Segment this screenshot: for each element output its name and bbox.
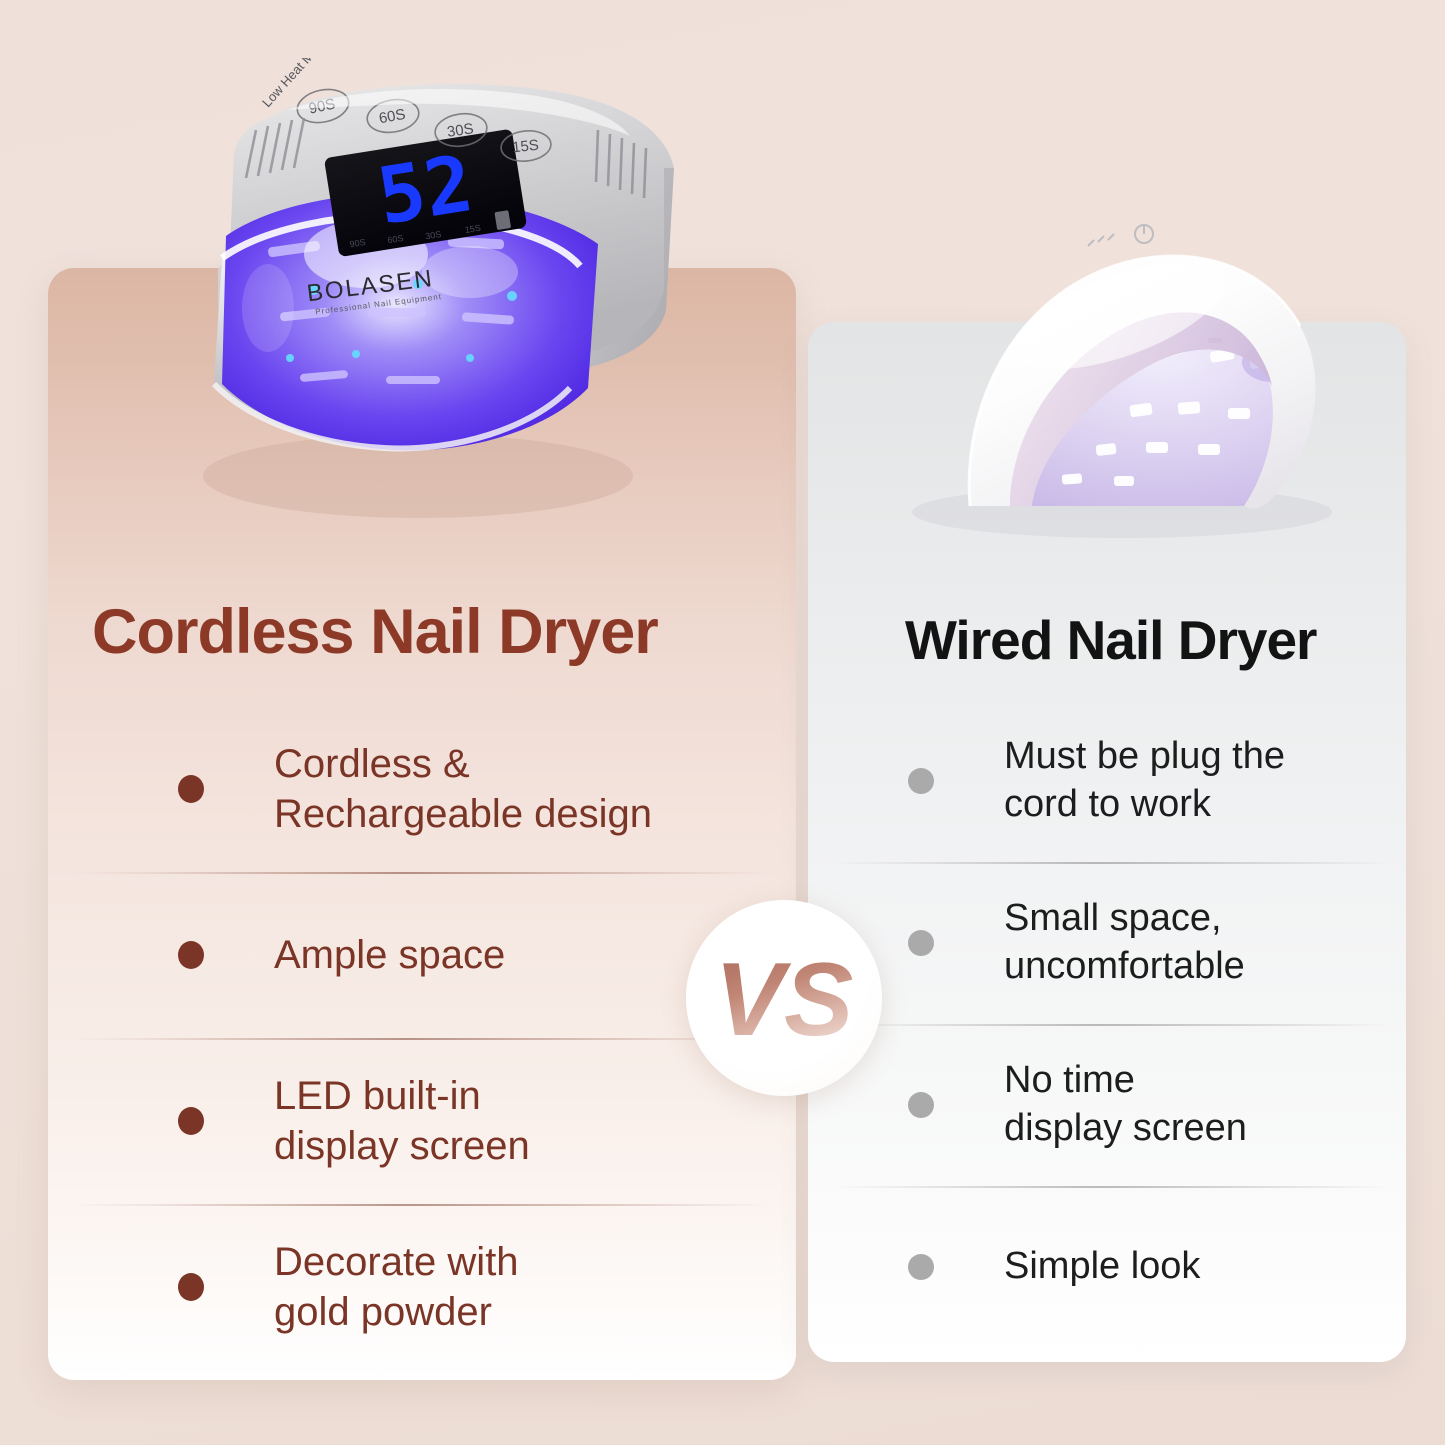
feature-text: Simple look [1004,1243,1200,1291]
vs-badge: VS [686,900,882,1096]
feature-text: Decorate with gold powder [274,1237,519,1338]
list-item: Ample space [70,872,770,1038]
list-item: No time display screen [830,1024,1390,1186]
wired-nail-dryer-image [852,176,1372,556]
led-display-value: 52 [372,139,479,243]
bullet-icon [908,768,934,794]
feature-text: Cordless & Rechargeable design [274,739,652,840]
right-panel-heading: Wired Nail Dryer [905,608,1316,672]
list-item: LED built-in display screen [70,1038,770,1204]
cordless-nail-dryer-image: 52 90S60S 30S15S 90S 60S 30S 15S Low Hea… [118,58,718,578]
feature-text: Ample space [274,930,505,980]
svg-text:15S: 15S [511,137,539,157]
feature-text: No time display screen [1004,1057,1247,1153]
bullet-icon [178,941,204,969]
bullet-icon [178,775,204,803]
feature-text: LED built-in display screen [274,1071,530,1172]
list-item: Small space, uncomfortable [830,862,1390,1024]
bullet-icon [178,1107,204,1135]
list-item: Simple look [830,1186,1390,1348]
left-panel-heading: Cordless Nail Dryer [92,596,658,668]
list-item: Must be plug the cord to work [830,700,1390,862]
bullet-icon [908,930,934,956]
feature-text: Must be plug the cord to work [1004,733,1285,829]
wired-feature-list: Must be plug the cord to work Small spac… [830,700,1390,1348]
bullet-icon [178,1273,204,1301]
list-item: Cordless & Rechargeable design [70,706,770,872]
cordless-feature-list: Cordless & Rechargeable design Ample spa… [70,706,770,1370]
bullet-icon [908,1092,934,1118]
list-item: Decorate with gold powder [70,1204,770,1370]
feature-text: Small space, uncomfortable [1004,895,1245,991]
bullet-icon [908,1254,934,1280]
